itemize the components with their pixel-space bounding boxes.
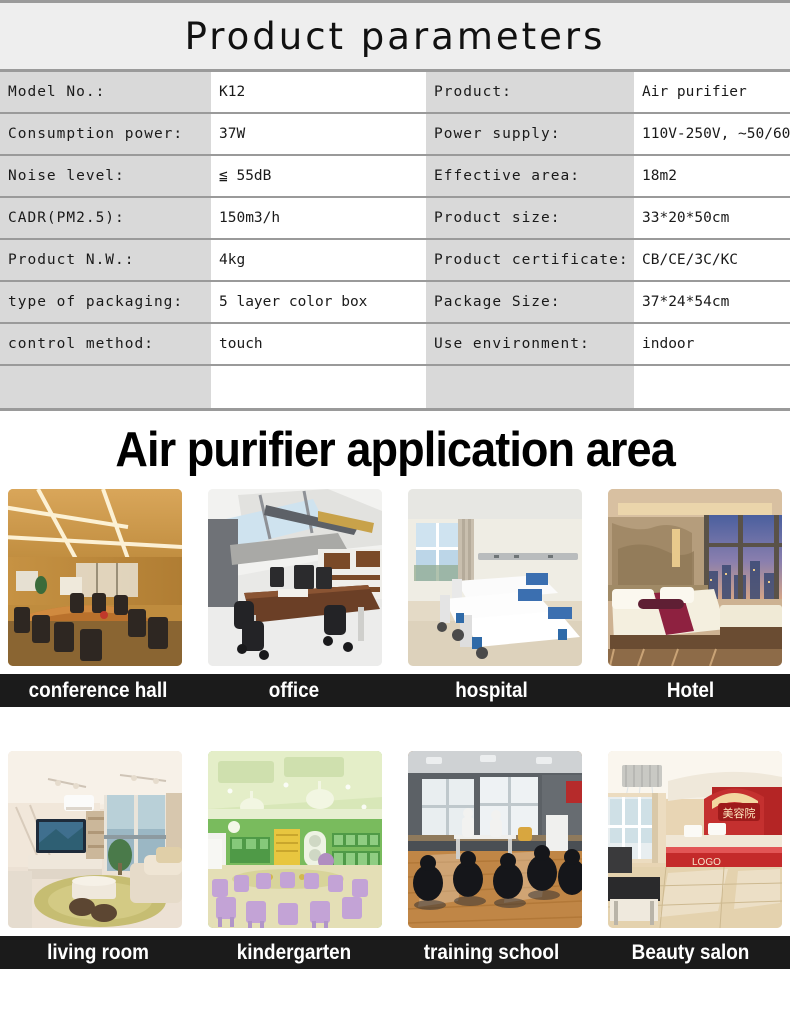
spec-value <box>634 365 790 410</box>
spec-value: CB/CE/3C/KC <box>634 239 790 281</box>
living-room-photo <box>8 751 182 928</box>
spec-value: Air purifier <box>634 72 790 113</box>
beauty-salon-photo: 美容院 LOGO <box>608 751 782 928</box>
caption-conference-hall: conference hall <box>10 679 186 703</box>
thumbnail-hospital[interactable] <box>408 489 582 666</box>
salon-sign-text: 美容院 <box>723 806 756 820</box>
thumbnail-strip <box>0 489 790 666</box>
thumbnail-strip: 美容院 LOGO <box>0 751 790 928</box>
spec-label <box>0 365 211 410</box>
spec-value: indoor <box>634 323 790 365</box>
spec-label: Effective area: <box>426 155 634 197</box>
spec-value: 37*24*54cm <box>634 281 790 323</box>
spec-value: 150m3/h <box>211 197 426 239</box>
product-spec-page: Product parameters Model No.: K12 Produc… <box>0 0 790 1022</box>
spec-value: ≦ 55dB <box>211 155 426 197</box>
spec-value: 18m2 <box>634 155 790 197</box>
caption-living-room: living room <box>10 941 186 965</box>
thumbnail-hotel[interactable] <box>608 489 782 666</box>
thumbnail-kindergarten[interactable] <box>208 751 382 928</box>
thumbnail-beauty-salon[interactable]: 美容院 LOGO <box>608 751 782 928</box>
table-row: Noise level: ≦ 55dB Effective area: 18m2 <box>0 155 790 197</box>
thumbnail-office[interactable] <box>208 489 382 666</box>
application-area-title: Air purifier application area <box>115 422 675 478</box>
salon-desk-logo: LOGO <box>692 857 721 868</box>
caption-hotel: Hotel <box>601 679 780 703</box>
table-row-empty <box>0 365 790 410</box>
spec-value: 33*20*50cm <box>634 197 790 239</box>
spec-value: K12 <box>211 72 426 113</box>
spec-label: Product size: <box>426 197 634 239</box>
table-row: CADR(PM2.5): 150m3/h Product size: 33*20… <box>0 197 790 239</box>
spec-label: Product certificate: <box>426 239 634 281</box>
spec-value: 110V-250V, ~50/60Hz <box>634 113 790 155</box>
spec-label: Model No.: <box>0 72 211 113</box>
spec-label: Product: <box>426 72 634 113</box>
spec-label: Package Size: <box>426 281 634 323</box>
office-photo <box>208 489 382 666</box>
application-gallery-row-2: 美容院 LOGO <box>0 751 790 969</box>
spec-label: Use environment: <box>426 323 634 365</box>
spec-value: 4kg <box>211 239 426 281</box>
conference-hall-photo <box>8 489 182 666</box>
gallery-spacer <box>0 707 790 751</box>
thumbnail-conference-hall[interactable] <box>8 489 182 666</box>
caption-bar-row-2: living room kindergarten training school… <box>0 936 790 969</box>
table-row: Consumption power: 37W Power supply: 110… <box>0 113 790 155</box>
application-gallery-row-1: conference hall office hospital Hotel <box>0 489 790 707</box>
caption-kindergarten: kindergarten <box>206 941 382 965</box>
caption-beauty-salon: Beauty salon <box>601 941 780 965</box>
caption-training-school: training school <box>402 941 581 965</box>
spec-label: Consumption power: <box>0 113 211 155</box>
caption-office: office <box>206 679 382 703</box>
hospital-photo <box>408 489 582 666</box>
spec-label: control method: <box>0 323 211 365</box>
table-row: Product N.W.: 4kg Product certificate: C… <box>0 239 790 281</box>
caption-bar-row-1: conference hall office hospital Hotel <box>0 674 790 707</box>
page-header-banner: Product parameters <box>0 0 790 72</box>
spec-label: Noise level: <box>0 155 211 197</box>
spec-label: Product N.W.: <box>0 239 211 281</box>
specification-table: Model No.: K12 Product: Air purifier Con… <box>0 72 790 411</box>
spec-label: CADR(PM2.5): <box>0 197 211 239</box>
table-row: Model No.: K12 Product: Air purifier <box>0 72 790 113</box>
spec-value <box>211 365 426 410</box>
table-row: type of packaging: 5 layer color box Pac… <box>0 281 790 323</box>
spec-value: 37W <box>211 113 426 155</box>
spec-label: type of packaging: <box>0 281 211 323</box>
specification-table-body: Model No.: K12 Product: Air purifier Con… <box>0 72 790 410</box>
spec-label: Power supply: <box>426 113 634 155</box>
thumbnail-living-room[interactable] <box>8 751 182 928</box>
hotel-photo <box>608 489 782 666</box>
spec-label <box>426 365 634 410</box>
table-row: control method: touch Use environment: i… <box>0 323 790 365</box>
training-school-photo <box>408 751 582 928</box>
spec-value: touch <box>211 323 426 365</box>
spec-value: 5 layer color box <box>211 281 426 323</box>
application-area-header: Air purifier application area <box>0 411 790 489</box>
thumbnail-training-school[interactable] <box>408 751 582 928</box>
caption-hospital: hospital <box>402 679 581 703</box>
kindergarten-photo <box>208 751 382 928</box>
page-title: Product parameters <box>185 15 606 58</box>
